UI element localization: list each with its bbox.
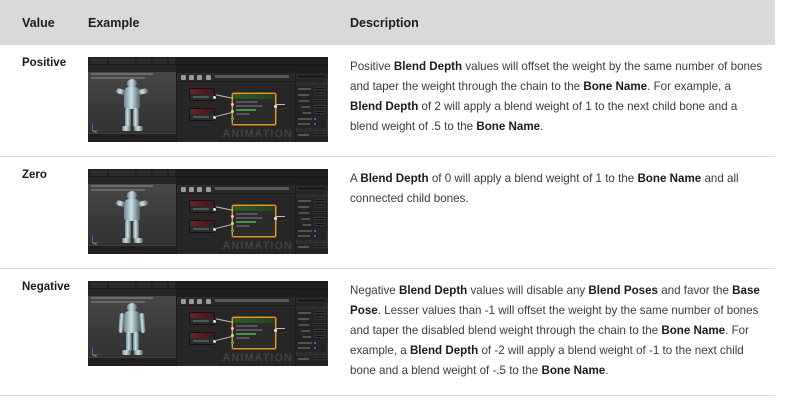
row-value-label: Negative [0,269,88,396]
viewport-toolbar [88,289,176,296]
details-scrollbar[interactable] [327,79,328,137]
axis-gizmo-icon [92,234,101,243]
graph-breadcrumb [215,75,289,78]
graph-node-layered-blend-per-bone[interactable] [232,205,276,237]
viewport-stats-line-1 [91,73,153,75]
table-row: Negative [0,269,775,396]
character-mannequin [109,79,155,137]
character-mannequin [109,191,155,249]
viewport-pane [88,177,176,254]
graph-node-pose-a[interactable] [189,200,215,213]
graph-node-pose-a[interactable] [189,88,215,101]
details-search-input[interactable] [297,298,327,303]
anim-graph-pane: ANIMATION [177,65,295,142]
viewport-status-bar [88,134,176,142]
details-tab-bar [296,289,328,297]
details-pane [296,289,328,366]
graph-node-layered-blend-per-bone[interactable] [232,317,276,349]
details-search-input[interactable] [297,74,327,79]
row-example-cell: ANIMATION [88,269,350,396]
viewport-pane [88,289,176,366]
description-text: A Blend Depth of 0 will apply a blend we… [350,169,763,209]
graph-node-pose-b[interactable] [189,108,215,121]
details-search-input[interactable] [297,186,327,191]
anim-graph-pane: ANIMATION [177,289,295,366]
viewport-toolbar [88,177,176,184]
editor-tab-bar [88,57,328,65]
table-header-row: Value Example Description [0,0,775,45]
details-pane [296,65,328,142]
table-header: Value Example Description [0,0,775,45]
graph-tab-bar [177,65,295,73]
graph-node-pose-b[interactable] [189,332,215,345]
editor-tab-bar [88,281,328,289]
column-header-description: Description [350,0,775,45]
description-text: Negative Blend Depth values will disable… [350,281,763,381]
viewport-toolbar [88,65,176,72]
details-tab-bar [296,65,328,73]
row-value-label: Positive [0,45,88,157]
graph-breadcrumb [215,187,289,190]
editor-tab-bar [88,169,328,177]
viewport-pane [88,65,176,142]
row-example-cell: ANIMATION [88,45,350,157]
graph-node-pose-b[interactable] [189,220,215,233]
details-tab-bar [296,177,328,185]
table-body: Positive [0,45,775,395]
row-description-cell: Positive Blend Depth values will offset … [350,45,775,157]
character-mannequin [109,303,155,361]
anim-graph-pane: ANIMATION [177,177,295,254]
column-header-value: Value [0,0,88,45]
row-description-cell: Negative Blend Depth values will disable… [350,269,775,396]
description-text: Positive Blend Depth values will offset … [350,57,763,137]
unreal-editor-screenshot: ANIMATION [88,57,328,142]
blend-depth-reference-table: Value Example Description Positive [0,0,775,396]
viewport-stats-line-1 [91,297,153,299]
viewport-status-bar [88,246,176,254]
details-pane [296,177,328,254]
graph-node-layered-blend-per-bone[interactable] [232,93,276,125]
axis-gizmo-icon [92,122,101,131]
viewport-status-bar [88,358,176,366]
unreal-editor-screenshot: ANIMATION [88,281,328,366]
row-example-cell: ANIMATION [88,157,350,269]
unreal-editor-screenshot: ANIMATION [88,169,328,254]
axis-gizmo-icon [92,346,101,355]
viewport-stats-line-1 [91,185,153,187]
details-scrollbar[interactable] [327,303,328,361]
graph-tab-bar [177,177,295,185]
row-value-label: Zero [0,157,88,269]
animation-watermark: ANIMATION [222,128,293,140]
graph-tab-bar [177,289,295,297]
details-scrollbar[interactable] [327,191,328,249]
animation-watermark: ANIMATION [222,240,293,252]
graph-node-pose-a[interactable] [189,312,215,325]
row-description-cell: A Blend Depth of 0 will apply a blend we… [350,157,775,269]
table-row: Positive [0,45,775,157]
column-header-example: Example [88,0,350,45]
animation-watermark: ANIMATION [222,352,293,364]
graph-breadcrumb [215,299,289,302]
table-row: Zero [0,157,775,269]
